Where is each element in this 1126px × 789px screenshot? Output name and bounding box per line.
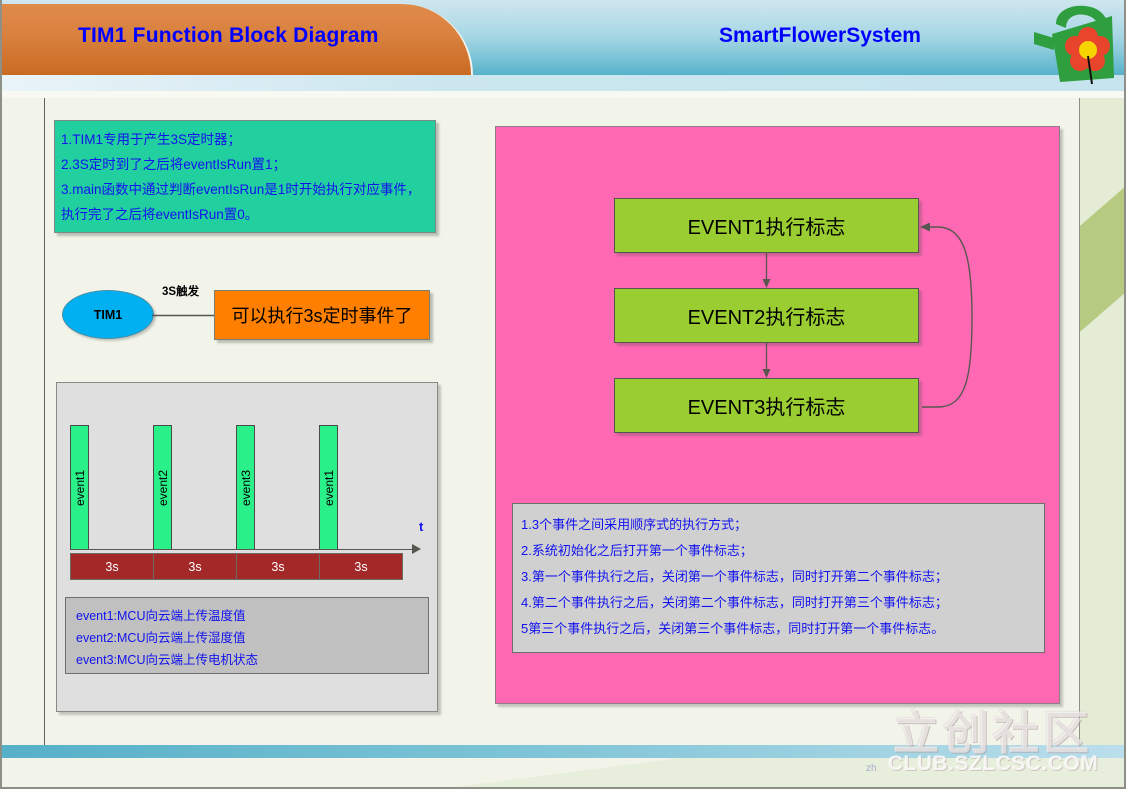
header-band-secondary	[0, 75, 1126, 91]
event-description-box: 1.3个事件之间采用顺序式的执行方式； 2.系统初始化之后打开第一个事件标志； …	[512, 503, 1045, 653]
trigger-arrow-label: 3S触发	[160, 283, 201, 299]
watering-can-flower-logo	[1026, 0, 1126, 94]
legend-line-3: event3:MCU向云端上传电机状态	[76, 649, 418, 671]
legend-line-1: event1:MCU向云端上传温度值	[76, 605, 418, 627]
timing-bar-label-4: event1	[322, 469, 336, 505]
watering-can-icon	[1026, 0, 1126, 94]
system-title: SmartFlowerSystem	[640, 24, 1000, 48]
tim1-source-label: TIM1	[94, 308, 122, 322]
note-line-1: 1.TIM1专用于产生3S定时器；	[61, 127, 429, 152]
footer-wedge-shape	[440, 758, 1126, 789]
description-line-4: 4.第二个事件执行之后，关闭第二个事件标志，同时打开第三个事件标志；	[521, 590, 1036, 616]
flow-arrow-3-to-1-feedback	[914, 217, 986, 417]
header-white-strip	[0, 91, 1126, 98]
event-block-label-1: EVENT1执行标志	[688, 211, 846, 240]
slide-canvas: TIM1 Function Block Diagram SmartFlowerS…	[0, 0, 1126, 789]
interval-bar-3: 3s	[236, 553, 320, 580]
decorative-side-band	[1080, 98, 1124, 746]
decorative-band-border	[1079, 98, 1080, 746]
interval-bar-4: 3s	[319, 553, 403, 580]
time-axis-label: t	[419, 519, 423, 534]
note-line-2: 2.3S定时到了之后将eventIsRun置1；	[61, 152, 429, 177]
decorative-stripe	[1080, 134, 1124, 339]
tim1-note-box: 1.TIM1专用于产生3S定时器； 2.3S定时到了之后将eventIsRun置…	[54, 120, 436, 233]
footer-accent-bar	[0, 745, 1126, 758]
event-block-2: EVENT2执行标志	[614, 288, 919, 343]
content-divider	[44, 98, 45, 746]
description-line-1: 1.3个事件之间采用顺序式的执行方式；	[521, 512, 1036, 538]
event-block-3: EVENT3执行标志	[614, 378, 919, 433]
timing-bar-label-1: event1	[73, 469, 87, 505]
timing-bar-3: event3	[236, 425, 255, 550]
description-line-5: 5第三个事件执行之后，关闭第三个事件标志，同时打开第一个事件标志。	[521, 616, 1036, 642]
event-legend-box: event1:MCU向云端上传温度值 event2:MCU向云端上传湿度值 ev…	[65, 597, 429, 674]
event-block-label-2: EVENT2执行标志	[688, 301, 846, 330]
tim1-source-node: TIM1	[62, 290, 154, 339]
time-axis-line	[70, 549, 414, 550]
interval-bar-1: 3s	[70, 553, 154, 580]
timing-bar-label-2: event2	[156, 469, 170, 505]
footer-wedge-decoration	[440, 758, 1126, 789]
note-line-3: 3.main函数中通过判断eventIsRun是1时开始执行对应事件，执行完了之…	[61, 177, 429, 227]
legend-line-2: event2:MCU向云端上传湿度值	[76, 627, 418, 649]
event-block-label-3: EVENT3执行标志	[688, 391, 846, 420]
event-block-1: EVENT1执行标志	[614, 198, 919, 253]
timing-bar-2: event2	[153, 425, 172, 550]
timing-bar-1: event1	[70, 425, 89, 550]
time-axis-arrowhead	[412, 544, 421, 554]
frame-border-left	[0, 0, 2, 789]
flow-arrow-1-to-2	[762, 253, 771, 289]
description-line-3: 3.第一个事件执行之后，关闭第一个事件标志，同时打开第二个事件标志；	[521, 564, 1036, 590]
timing-bar-label-3: event3	[239, 469, 253, 505]
interval-bar-2: 3s	[153, 553, 237, 580]
timer-event-ready-label: 可以执行3s定时事件了	[231, 302, 412, 328]
timer-event-ready-box: 可以执行3s定时事件了	[214, 290, 430, 340]
flow-arrow-2-to-3	[762, 343, 771, 379]
timing-bar-4: event1	[319, 425, 338, 550]
description-line-2: 2.系统初始化之后打开第一个事件标志；	[521, 538, 1036, 564]
page-title: TIM1 Function Block Diagram	[78, 24, 438, 48]
